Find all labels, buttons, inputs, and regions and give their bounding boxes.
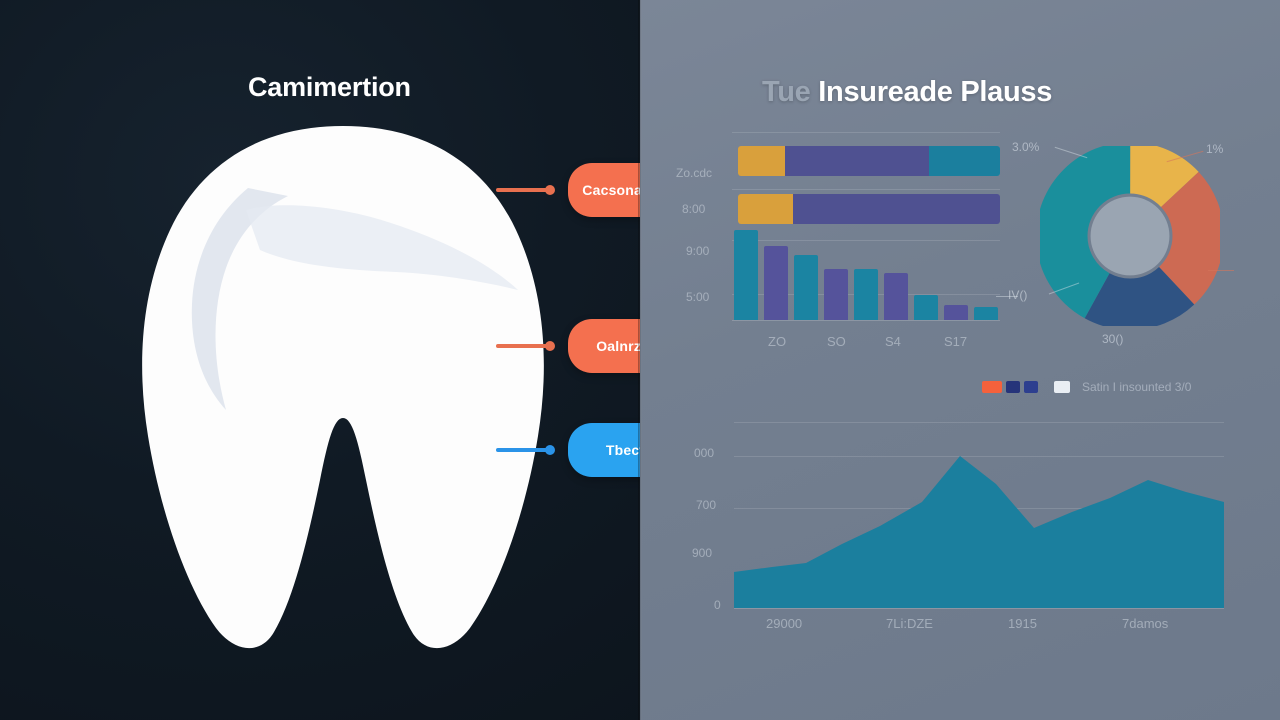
area-series	[734, 420, 1224, 610]
donut-label-1: 1%	[1206, 142, 1223, 156]
donut-label-3: 30()	[1102, 332, 1123, 346]
area-xtick-0: 29000	[766, 616, 802, 631]
vertical-bar	[794, 255, 818, 320]
area-ylabel-2: 900	[692, 546, 712, 560]
stacked-seg-teal	[929, 146, 1000, 176]
stacked-seg-gold	[738, 146, 785, 176]
bar-ylabel-2: 9:00	[686, 244, 709, 258]
bar-ylabel-1: 8:00	[682, 202, 705, 216]
vertical-bar	[914, 295, 938, 320]
right-title-main: Insureade Plauss	[818, 76, 1052, 108]
area-xtick-3: 7damos	[1122, 616, 1168, 631]
area-ylabel-1: 700	[696, 498, 716, 512]
callout-leader-2	[496, 344, 552, 348]
legend-swatch-3	[1054, 381, 1070, 393]
legend-label: Satin I insounted 3/0	[1082, 380, 1191, 394]
donut-label-0: 3.0%	[1012, 140, 1039, 154]
legend-swatch-1	[1006, 381, 1020, 393]
gridline	[732, 132, 1000, 133]
donut-center-hole	[1091, 197, 1170, 276]
panel-divider	[638, 0, 642, 720]
area-ylabel-3: 0	[714, 598, 721, 612]
donut-label-2: IV()	[1008, 288, 1027, 302]
tooth-illustration	[108, 118, 578, 658]
bar-ylabel-0: Zo.cdc	[676, 166, 712, 180]
area-xtick-2: 1915	[1008, 616, 1037, 631]
bar-chart: Zo.cdc 8:00 9:00 5:00	[672, 132, 1002, 362]
bar-xtick-2: S4	[885, 334, 901, 349]
bar-ylabel-3: 5:00	[686, 290, 709, 304]
vertical-bar	[764, 246, 788, 320]
gridline	[732, 189, 1000, 190]
legend-swatch-2	[1024, 381, 1038, 393]
stacked-seg-purple	[785, 146, 929, 176]
donut-chart: 3.0% 1% IV() 30()	[1010, 130, 1270, 370]
donut-leader	[996, 296, 1018, 297]
area-ylabel-0: 000	[694, 446, 714, 460]
stacked-bar-row-1	[738, 146, 1000, 176]
vertical-bar	[884, 273, 908, 320]
bar-xtick-0: ZO	[768, 334, 786, 349]
right-panel-title: Tue Insureade Plauss	[762, 76, 1052, 109]
vertical-bar	[854, 269, 878, 320]
right-title-prefix: Tue	[762, 76, 811, 108]
left-panel-title: Camimertion	[248, 72, 411, 103]
area-chart: 000 700 900 0 29000 7Li:DZE 1915 7damos	[690, 420, 1230, 650]
axis-baseline	[732, 320, 1000, 321]
vertical-bar	[944, 305, 968, 320]
callout-leader-1	[496, 188, 552, 192]
vertical-bar	[974, 307, 998, 320]
stacked-bar-row-2	[738, 194, 1000, 224]
bar-xtick-1: SO	[827, 334, 846, 349]
chart-legend: Satin I insounted 3/0	[982, 380, 1191, 394]
donut-icon	[1040, 146, 1220, 326]
stacked-seg-gold	[738, 194, 793, 224]
stacked-seg-purple	[793, 194, 1000, 224]
vertical-bar-group	[734, 230, 1002, 320]
legend-swatch-0	[982, 381, 1002, 393]
donut-leader	[1208, 270, 1234, 271]
poster-canvas: Camimertion Cacsonatfoz Oalnrzat Tbect T…	[0, 0, 1280, 720]
area-xtick-1: 7Li:DZE	[886, 616, 933, 631]
bar-xtick-3: S17	[944, 334, 967, 349]
callout-leader-3	[496, 448, 552, 452]
tooth-icon	[108, 118, 578, 658]
vertical-bar	[824, 269, 848, 320]
vertical-bar	[734, 230, 758, 320]
